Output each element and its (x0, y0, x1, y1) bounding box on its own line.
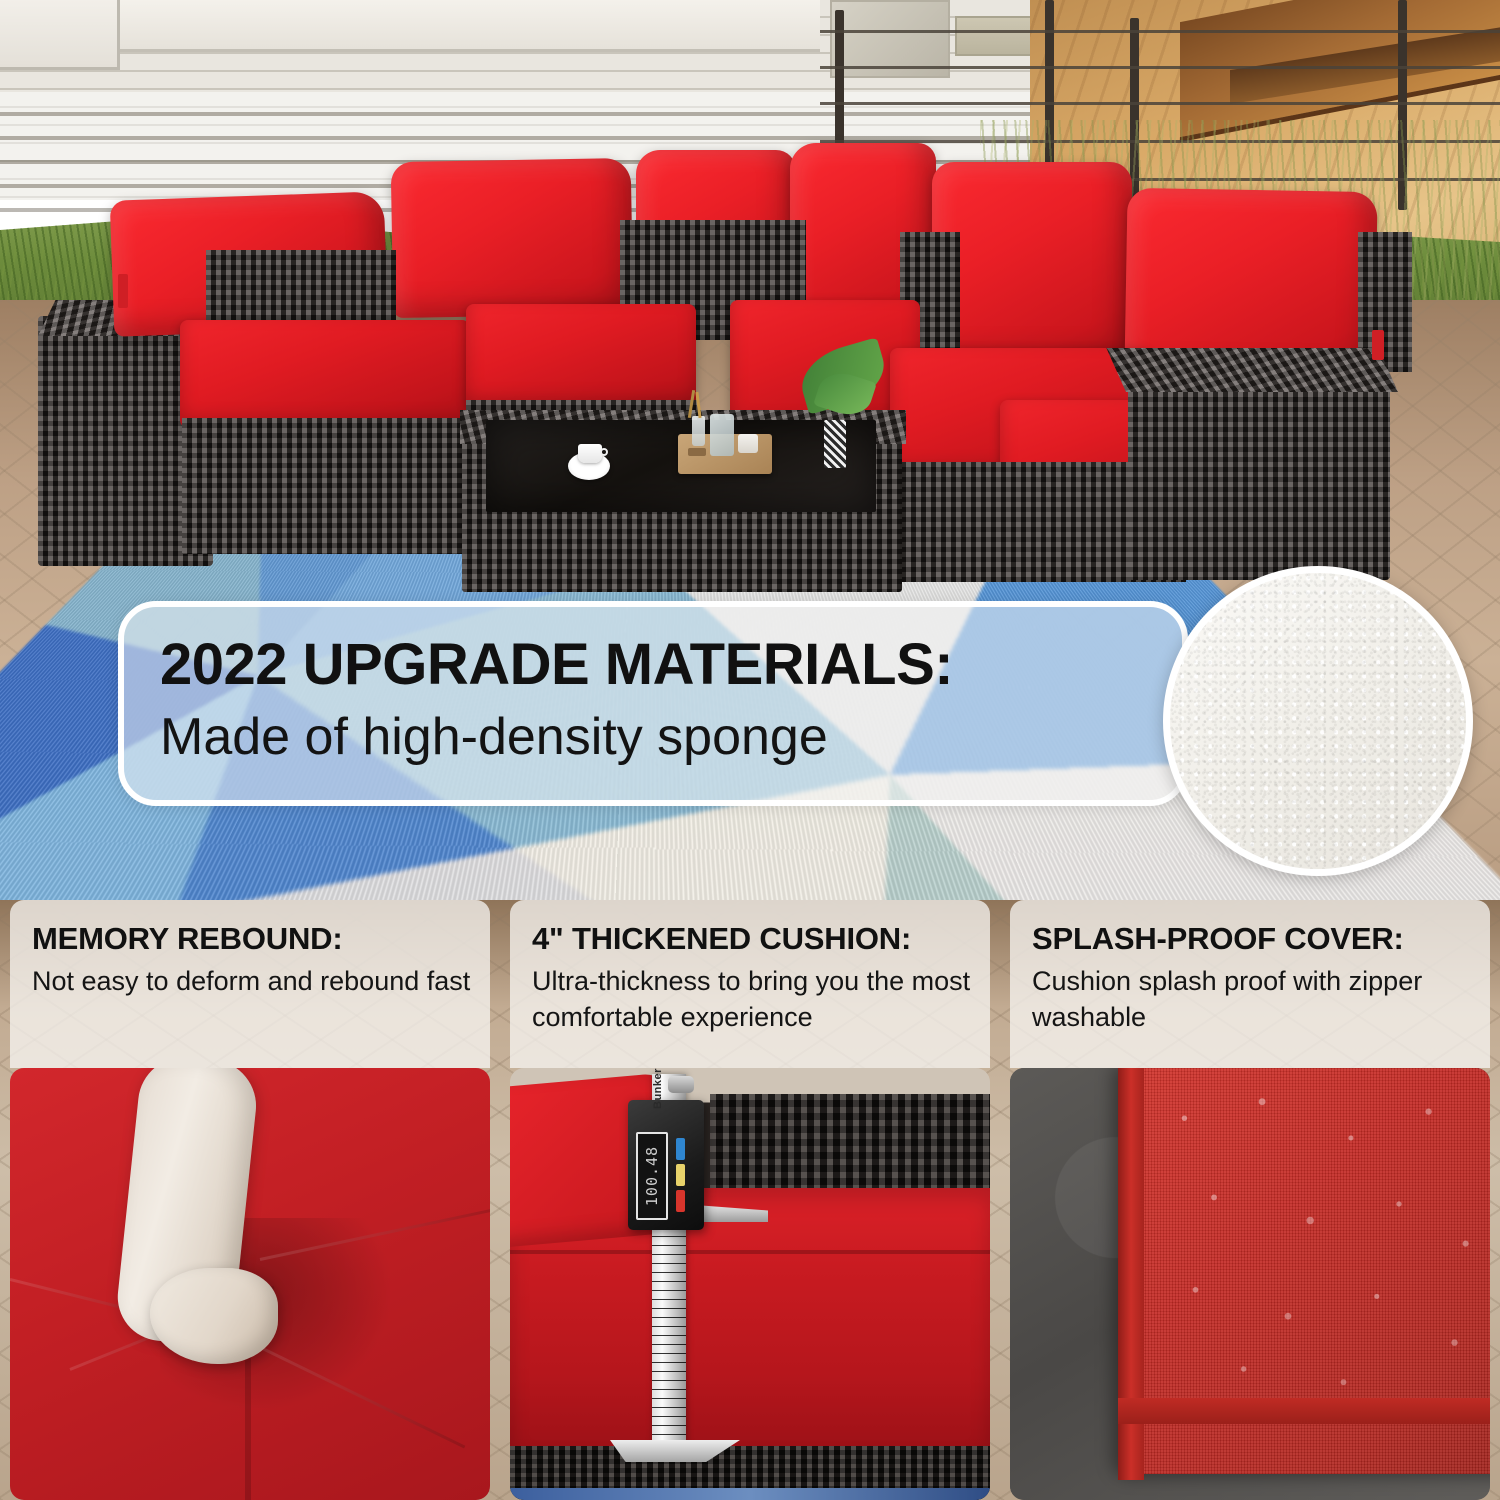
fabric-hem-bottom (1118, 1398, 1490, 1424)
feature-description: Not easy to deform and rebound fast (32, 964, 472, 1000)
glass-candle-holder (710, 414, 734, 456)
feature-photo-caliper: 100.48 Bunker (510, 1068, 990, 1500)
fabric-crease (245, 1340, 251, 1500)
feature-panel-splash-proof: SPLASH-PROOF COVER: Cushion splash proof… (1010, 900, 1490, 1500)
feature-photo-hand-press (10, 1068, 490, 1500)
pillar-candle (738, 434, 758, 453)
strap-accent (118, 274, 128, 308)
upgrade-banner: 2022 UPGRADE MATERIALS: Made of high-den… (118, 601, 1188, 806)
sofa-right-arm (1128, 372, 1390, 580)
coffee-cup (578, 444, 602, 463)
feature-panel-thickened-cushion: 4" THICKENED CUSHION: Ultra-thickness to… (510, 900, 990, 1500)
cup-handle (600, 448, 608, 456)
cushion-seam (510, 1250, 990, 1254)
caliper-on-zero-button[interactable] (676, 1164, 685, 1186)
tray-handle (688, 448, 706, 456)
wall-panel (0, 0, 120, 70)
feature-card: 4" THICKENED CUSHION: Ultra-thickness to… (510, 900, 990, 1068)
back-pillow (932, 162, 1132, 362)
seat-cushion (180, 320, 470, 428)
caliper-display-value: 100.48 (643, 1146, 661, 1206)
sponge-closeup-circle-icon (1163, 566, 1473, 876)
feature-card: MEMORY REBOUND: Not easy to deform and r… (10, 900, 490, 1068)
feature-title: SPLASH-PROOF COVER: (1032, 922, 1472, 956)
glass-bottle (692, 416, 705, 446)
feature-description: Ultra-thickness to bring you the most co… (532, 964, 972, 1035)
railing-wire (820, 66, 1500, 69)
seat-cushion (466, 304, 696, 408)
caliper-display: 100.48 (636, 1132, 668, 1220)
railing-wire (820, 102, 1500, 105)
wall-panel (120, 0, 820, 52)
feature-panels: MEMORY REBOUND: Not easy to deform and r… (0, 900, 1500, 1500)
feature-title: MEMORY REBOUND: (32, 922, 472, 956)
sofa-right-arm-top (1106, 348, 1398, 392)
hero-scene: 2022 UPGRADE MATERIALS: Made of high-den… (0, 0, 1500, 900)
caliper-brand-label: Bunker (652, 1077, 686, 1109)
feature-panel-memory-rebound: MEMORY REBOUND: Not easy to deform and r… (10, 900, 490, 1500)
sofa-base (182, 418, 474, 554)
caliper-off-button[interactable] (676, 1190, 685, 1212)
banner-subtitle: Made of high-density sponge (160, 706, 1182, 768)
railing-wire (820, 30, 1500, 33)
infographic-page: 2022 UPGRADE MATERIALS: Made of high-den… (0, 0, 1500, 1500)
feature-card: SPLASH-PROOF COVER: Cushion splash proof… (1010, 900, 1490, 1068)
feature-photo-splash (1010, 1068, 1490, 1500)
feature-title: 4" THICKENED CUSHION: (532, 922, 972, 956)
back-pillow (391, 158, 634, 318)
rug-edge (510, 1488, 990, 1500)
strap-accent (1372, 330, 1384, 360)
feature-description: Cushion splash proof with zipper washabl… (1032, 964, 1472, 1035)
banner-title: 2022 UPGRADE MATERIALS: (160, 635, 1182, 696)
caliper-scale (652, 1218, 686, 1454)
patterned-vase (824, 420, 846, 468)
caliper-mm-inch-button[interactable] (676, 1138, 685, 1160)
